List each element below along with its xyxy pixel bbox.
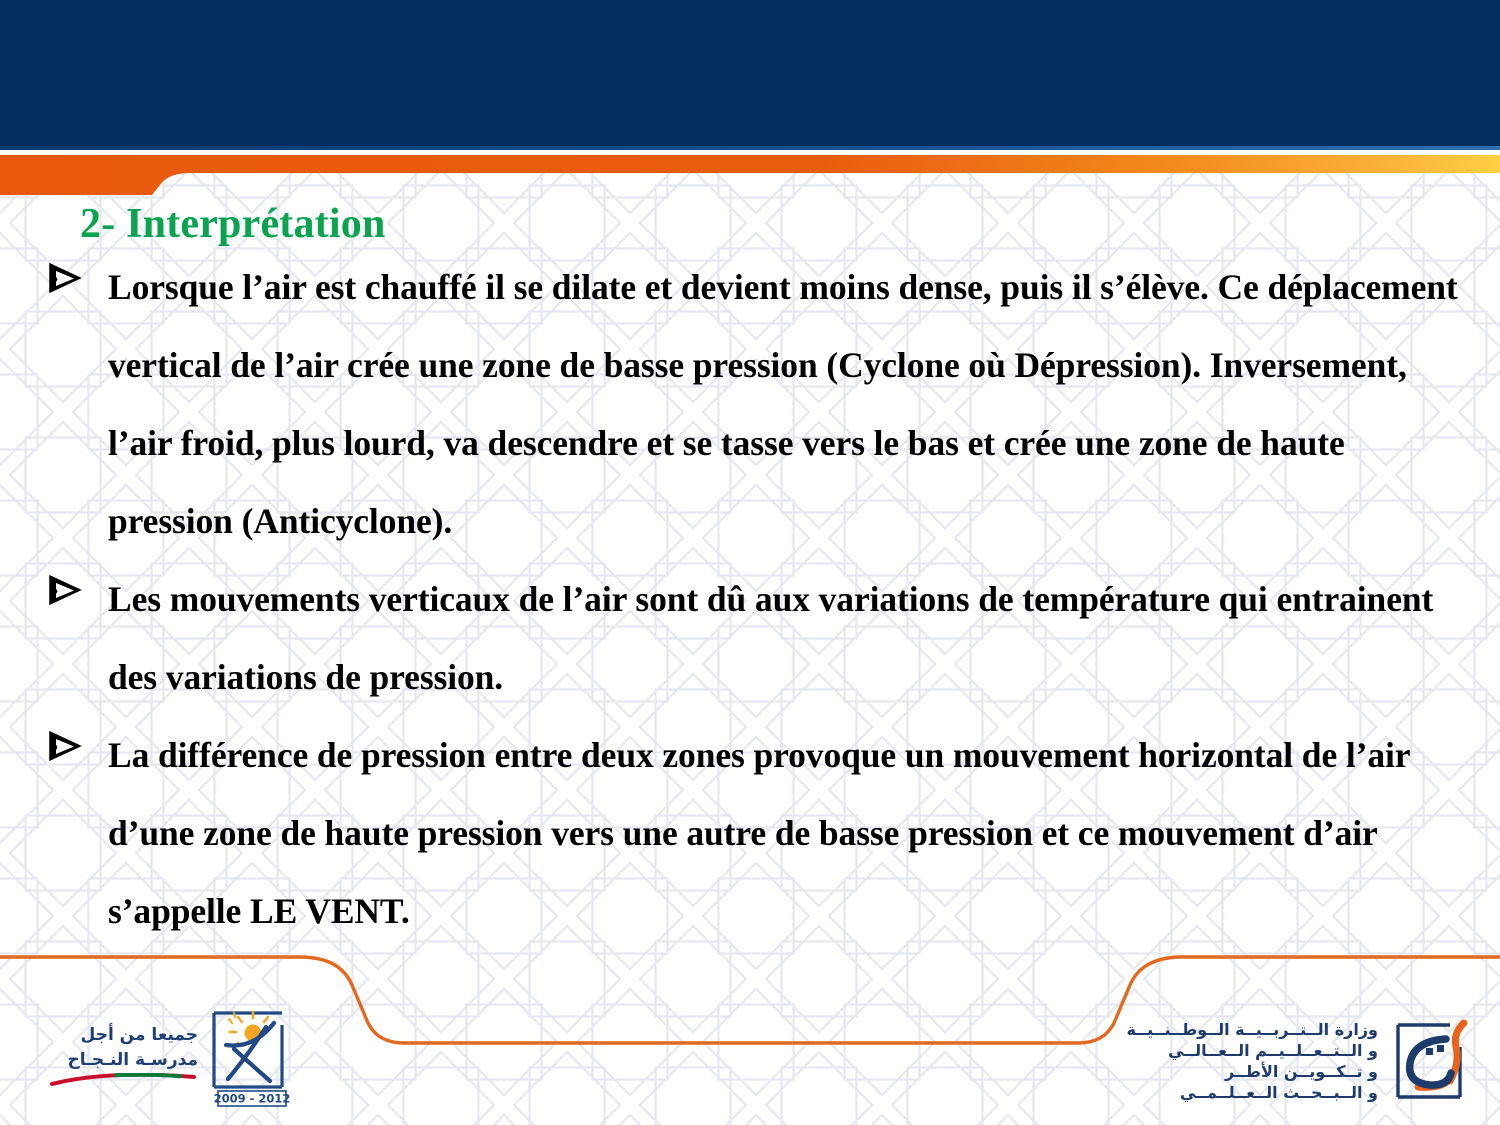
ministry-noon-emblem-icon xyxy=(1390,1017,1474,1105)
bullet-list: Lorsque l’air est chauffé il se dilate e… xyxy=(46,248,1476,950)
bullet-text: Les mouvements verticaux de l’air sont d… xyxy=(108,560,1476,716)
header-band-edge-highlight xyxy=(0,146,1500,150)
slogan-line-2: مدرسـة النـجـاح xyxy=(48,1048,198,1073)
slogan-line-1: جميعا من أجل xyxy=(48,1023,198,1048)
years-badge-label: 2009 - 2012 xyxy=(214,1092,291,1106)
ministry-name-block: وزارة الــتــربــيــة الــوطــنــيــة و … xyxy=(1126,1019,1378,1103)
school-success-slogan: جميعا من أجل مدرسـة النـجـاح xyxy=(48,1023,198,1092)
flag-swoosh-icon xyxy=(48,1073,198,1087)
ministry-line-3: و تــكــويــن الأطــر xyxy=(1126,1061,1378,1082)
slide-canvas: 2- Interprétation Lorsque l’air est chau… xyxy=(0,0,1500,1125)
ministry-logo: وزارة الــتــربــيــة الــوطــنــيــة و … xyxy=(1126,1017,1474,1105)
list-item: Les mouvements verticaux de l’air sont d… xyxy=(46,560,1476,716)
ministry-line-4: و الــبــحــث الــعــلــمــي xyxy=(1126,1082,1378,1103)
arrow-right-bullet-icon xyxy=(46,248,108,298)
sun-person-emblem-icon: 2009 - 2012 xyxy=(204,1007,300,1107)
ministry-line-2: و الــتــعــلــيــم الــعــالــي xyxy=(1126,1040,1378,1061)
page-title: 2- Interprétation xyxy=(80,203,386,245)
bullet-text: Lorsque l’air est chauffé il se dilate e… xyxy=(108,248,1476,560)
arrow-right-bullet-icon xyxy=(46,716,108,766)
list-item: La différence de pression entre deux zon… xyxy=(46,716,1476,950)
accent-bar xyxy=(0,155,1500,195)
list-item: Lorsque l’air est chauffé il se dilate e… xyxy=(46,248,1476,560)
arrow-right-bullet-icon xyxy=(46,560,108,610)
school-success-logo: جميعا من أجل مدرسـة النـجـاح xyxy=(48,1007,300,1107)
bullet-text: La différence de pression entre deux zon… xyxy=(108,716,1476,950)
header-band xyxy=(0,0,1500,148)
ministry-line-1: وزارة الــتــربــيــة الــوطــنــيــة xyxy=(1126,1019,1378,1040)
